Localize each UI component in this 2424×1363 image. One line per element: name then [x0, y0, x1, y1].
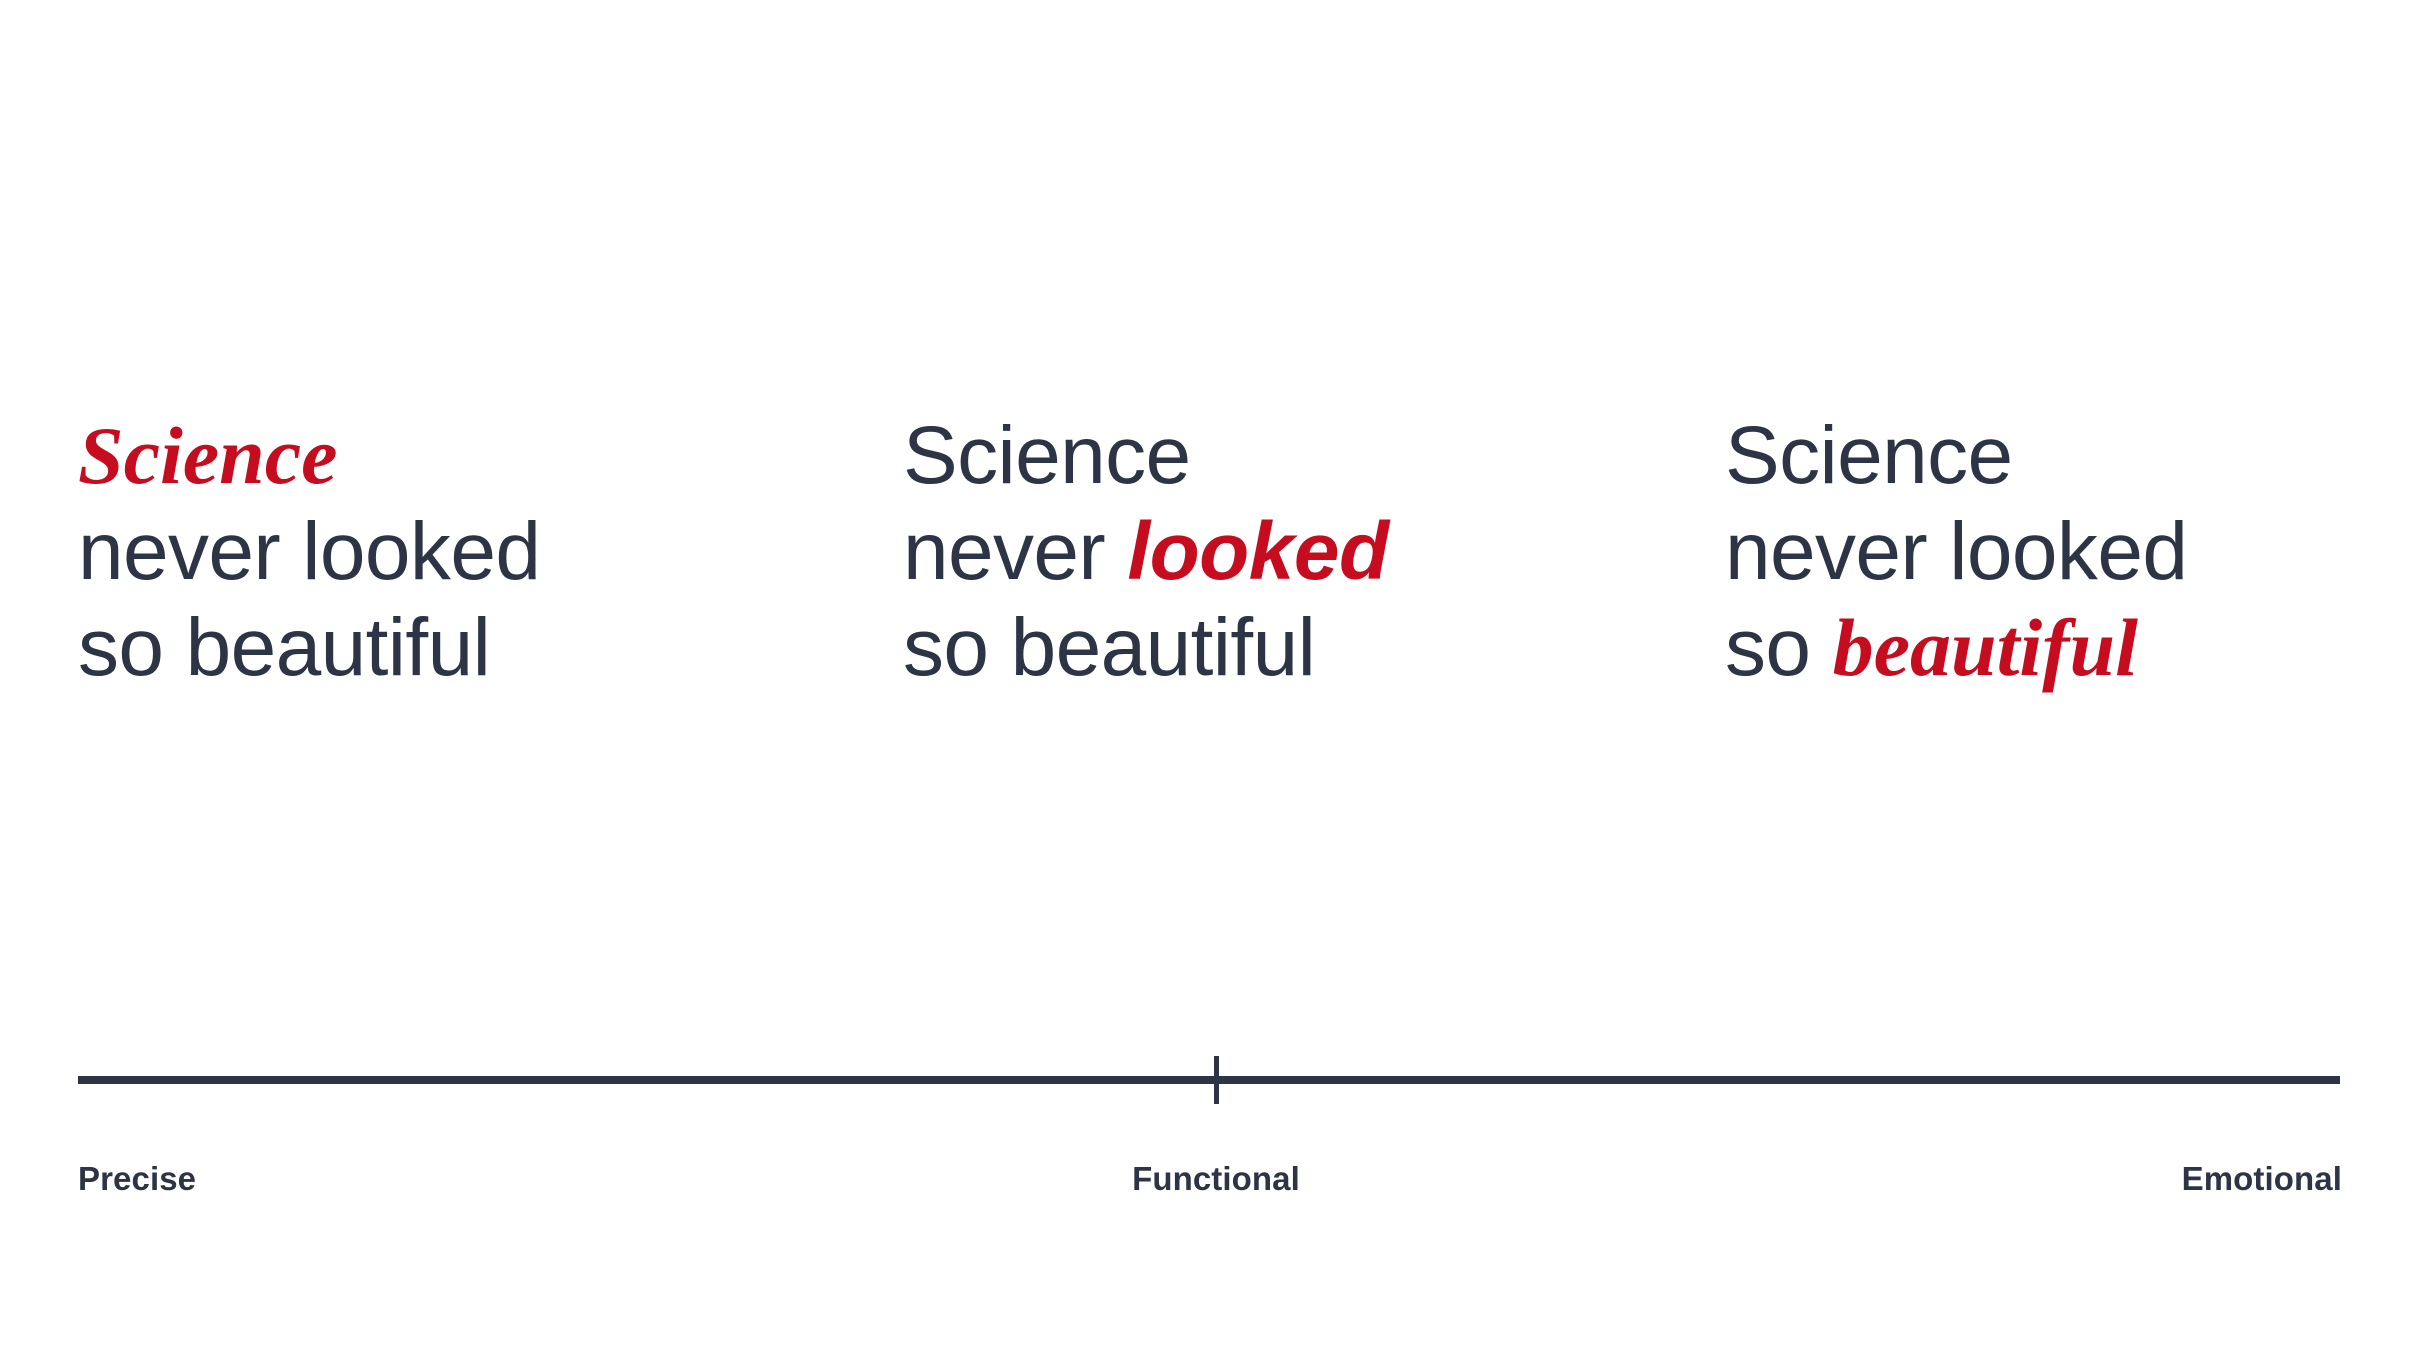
- slide-canvas: Science never looked so beautiful Scienc…: [0, 0, 2424, 1363]
- axis-line: [78, 1076, 2340, 1084]
- axis-label-emotional: Emotional: [2182, 1160, 2342, 1198]
- axis-label-precise: Precise: [78, 1160, 196, 1198]
- axis-label-functional: Functional: [1132, 1160, 1300, 1198]
- tone-spectrum-axis: Precise Functional Emotional: [0, 0, 2424, 1363]
- axis-center-tick: [1214, 1056, 1219, 1104]
